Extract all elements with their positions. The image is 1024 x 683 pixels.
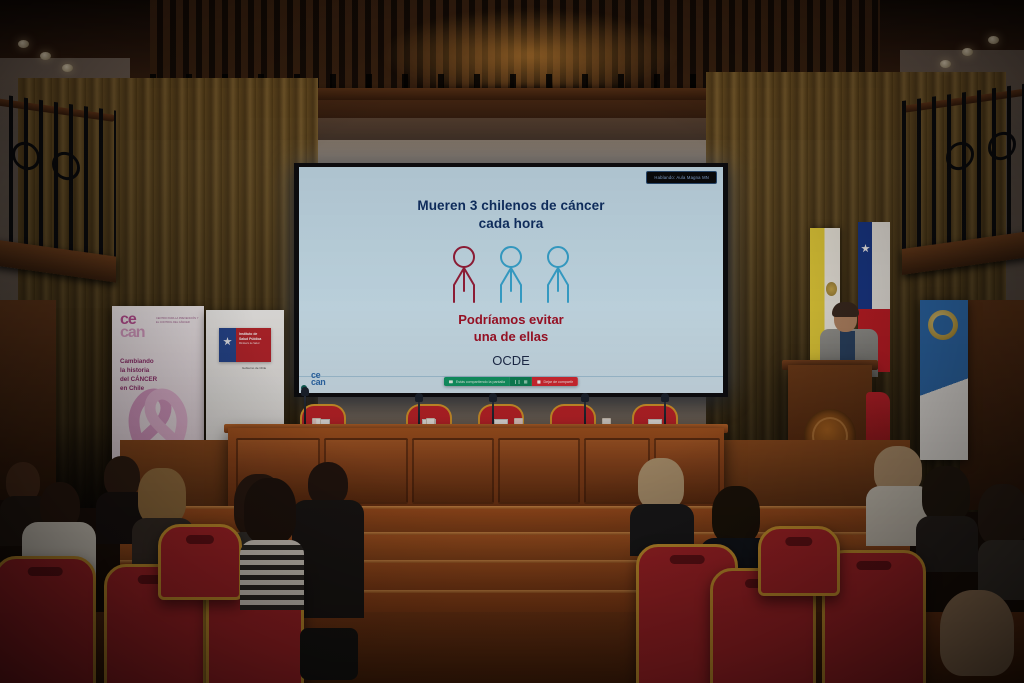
slide-headline: Mueren 3 chilenos de cáncer cada hora: [299, 197, 723, 233]
slide-subhead-line1: Podríamos evitar: [299, 312, 723, 329]
stop-share-button[interactable]: Dejar de compartir: [532, 377, 579, 386]
stop-share-label: Dejar de compartir: [544, 380, 574, 384]
share-controls[interactable]: ❙❙ ▦: [510, 377, 531, 386]
audience-person: [916, 466, 978, 566]
track-lamp-icon: [40, 52, 51, 60]
pause-icon[interactable]: ❙❙: [514, 379, 521, 384]
isp-logo: Instituto de Salud Pública Ministerio de…: [219, 328, 271, 362]
isp-logo-red-block: Instituto de Salud Pública Ministerio de…: [236, 328, 271, 362]
audience-area: [0, 440, 1024, 683]
cecan-logo-subtitle: CENTRO PARA LA PREVENCIÓN Y EL CONTROL D…: [156, 317, 200, 325]
vatican-emblem-icon: [826, 282, 837, 296]
speaker-hair: [832, 302, 859, 317]
cecan-logo: ce can: [120, 314, 145, 340]
slide-headline-line1: Mueren 3 chilenos de cáncer: [299, 197, 723, 215]
cecan-tagline-line4: en Chile: [120, 385, 199, 394]
slide-subhead: Podríamos evitar una de ellas: [299, 312, 723, 346]
balcony-left: [0, 80, 116, 310]
presentation-slide: Mueren 3 chilenos de cáncer cada hora: [299, 167, 723, 393]
screen-icon: [449, 380, 453, 384]
audience-seat[interactable]: [758, 526, 840, 596]
balcony-rail-right: [902, 83, 1024, 256]
cecan-tagline-line2: la historia: [120, 367, 199, 376]
speaker-shirt: [840, 331, 855, 361]
stop-share-icon: [537, 380, 541, 384]
person-figure-icon: [494, 245, 528, 303]
chile-flag-canton: [858, 222, 872, 309]
audience-person: [240, 478, 304, 608]
audience-person: [978, 484, 1024, 594]
projection-screen: Mueren 3 chilenos de cáncer cada hora: [299, 167, 723, 393]
audience-person: [630, 458, 694, 550]
share-status: Estás compartiendo la pantalla: [444, 377, 510, 386]
track-lamp-icon: [18, 40, 29, 48]
slide-cecan-logo: ce can: [311, 372, 325, 387]
audience-person: [930, 590, 1024, 683]
handbag: [300, 628, 358, 680]
active-speaker-badge: Hablando: Aula Magna MN: [646, 171, 717, 184]
person-figure-icon: [447, 245, 481, 303]
track-lamp-icon: [988, 36, 999, 44]
track-lamp-icon: [62, 64, 73, 72]
isp-subtitle: Ministerio de Salud: [239, 342, 268, 345]
audience-seat[interactable]: [158, 524, 242, 600]
university-flag: [920, 300, 968, 460]
isp-government-label: Gobierno de Chile: [242, 366, 266, 370]
slide-subhead-line2: una de ellas: [299, 329, 723, 346]
balcony-right: [902, 70, 1024, 310]
chile-star-icon: [861, 244, 870, 253]
cecan-tagline-line1: Cambiando: [120, 358, 199, 367]
university-crest-icon: [928, 310, 958, 340]
cecan-tagline: Cambiando la historia del CÁNCER en Chil…: [120, 358, 199, 394]
more-options-icon[interactable]: ▦: [524, 379, 528, 384]
slide-logo-bottom: can: [311, 379, 325, 387]
cecan-logo-bottom: can: [120, 327, 145, 340]
track-lamp-icon: [940, 60, 951, 68]
isp-logo-blue-block: [219, 328, 236, 362]
audience-seat[interactable]: [0, 556, 96, 683]
slide-figure-group: [299, 245, 723, 305]
person-figure-icon: [541, 245, 575, 303]
track-lamp-icon: [962, 48, 973, 56]
cecan-tagline-line3: del CÁNCER: [120, 376, 199, 385]
share-status-label: Estás compartiendo la pantalla: [456, 380, 505, 384]
chile-star-icon: [223, 337, 232, 346]
auditorium-scene: Mueren 3 chilenos de cáncer cada hora: [0, 0, 1024, 683]
slide-headline-line2: cada hora: [299, 215, 723, 233]
slide-source: OCDE: [299, 353, 723, 368]
screen-share-toolbar[interactable]: Estás compartiendo la pantalla ❙❙ ▦ Deja…: [444, 377, 578, 386]
